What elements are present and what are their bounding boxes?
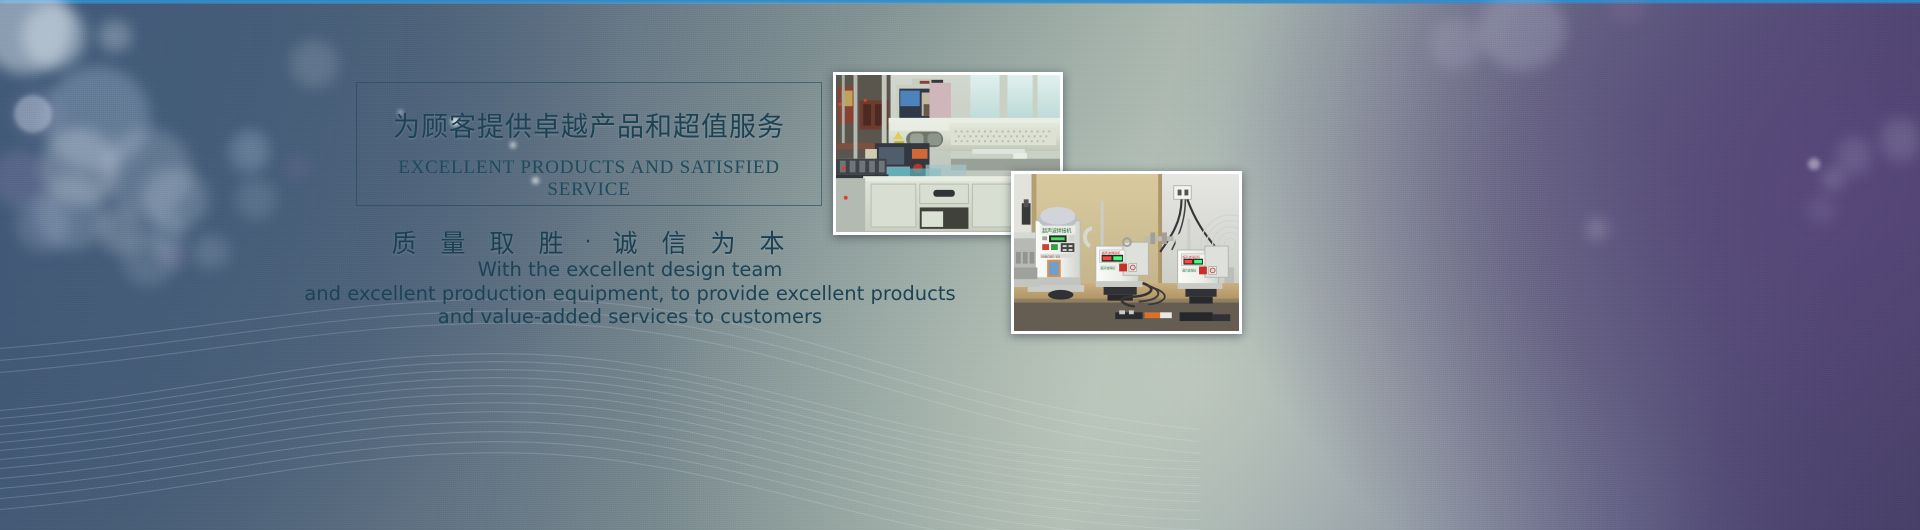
slogan-separator-dot: ·	[585, 230, 594, 255]
slogan-char: 量	[440, 224, 467, 260]
photo-press-machines[interactable]: 超声波焊接机 NINGBO XX	[1011, 171, 1242, 334]
slogan-chinese: 质量取胜·诚信为本	[346, 224, 832, 260]
slogan-char: 为	[711, 224, 738, 260]
slogan-char: 本	[760, 224, 787, 260]
slogan-char: 信	[662, 224, 689, 260]
description-line: With the excellent design team	[250, 258, 1010, 282]
headline-english: EXCELLENT PRODUCTS AND SATISFIED SERVICE	[356, 157, 822, 201]
photo-press-machines-image: 超声波焊接机 NINGBO XX	[1014, 174, 1239, 333]
promo-banner: 为顾客提供卓越产品和超值服务 EXCELLENT PRODUCTS AND SA…	[0, 0, 1920, 530]
headline-chinese: 为顾客提供卓越产品和超值服务	[356, 105, 822, 144]
slogan-char: 质	[391, 224, 418, 260]
description-line: and value-added services to customers	[250, 305, 1010, 329]
slogan-char: 取	[489, 224, 516, 260]
slogan-char: 诚	[613, 224, 640, 260]
description-line: and excellent production equipment, to p…	[250, 282, 1010, 306]
description-paragraph: With the excellent design team and excel…	[250, 258, 1010, 329]
slogan-char: 胜	[538, 224, 565, 260]
